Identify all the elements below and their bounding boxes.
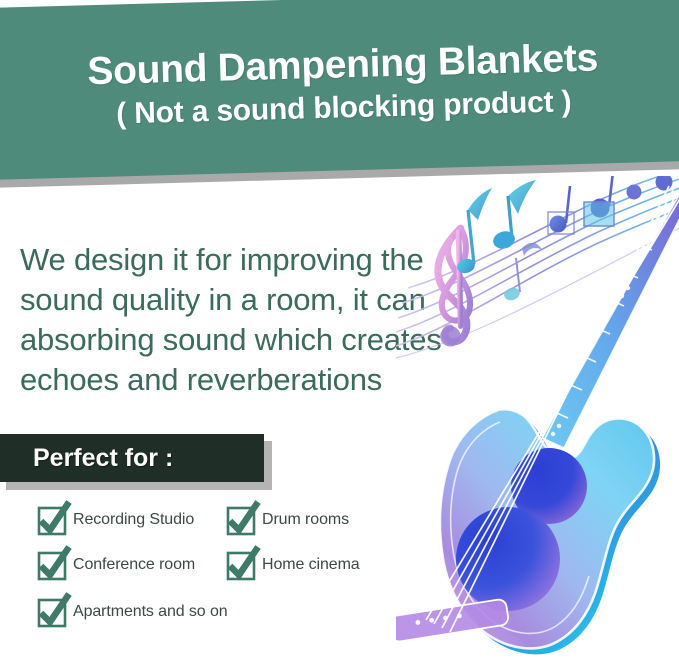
checkbox-checked-icon xyxy=(227,507,253,533)
list-item: Recording Studio xyxy=(38,507,194,533)
perfect-for-label: Perfect for : xyxy=(33,444,173,473)
header-banner: Sound Dampening Blankets ( Not a sound b… xyxy=(0,0,679,180)
list-item: Drum rooms xyxy=(227,507,349,533)
guitar-body xyxy=(396,409,660,654)
checklist-row-1-col-2: Drum rooms xyxy=(227,507,349,533)
list-item-label: Conference room xyxy=(73,556,195,574)
guitar-bridge xyxy=(396,598,509,642)
guitar-neck xyxy=(542,190,679,448)
guitar-pickup-circle xyxy=(511,448,587,524)
list-item-label: Apartments and so on xyxy=(73,603,228,621)
page-subtitle: ( Not a sound blocking product ) xyxy=(116,86,572,130)
perfect-for-banner: Perfect for : xyxy=(0,434,272,490)
guitar-strings xyxy=(426,186,679,632)
header-banner-content: Sound Dampening Blankets ( Not a sound b… xyxy=(0,0,679,180)
list-item-label: Home cinema xyxy=(262,556,360,574)
list-item: Apartments and so on xyxy=(38,599,228,625)
page-title: Sound Dampening Blankets xyxy=(87,38,599,93)
checkbox-checked-icon xyxy=(227,552,253,578)
list-item: Conference room xyxy=(38,552,195,578)
checkbox-checked-icon xyxy=(38,507,64,533)
checkbox-checked-icon xyxy=(38,552,64,578)
guitar-pickup-circle xyxy=(456,507,560,611)
checklist-row-2-col-2: Home cinema xyxy=(227,552,360,578)
list-item: Home cinema xyxy=(227,552,360,578)
product-infographic: Sound Dampening Blankets ( Not a sound b… xyxy=(0,0,679,668)
beamed-notes-icon xyxy=(455,176,672,302)
checkbox-checked-icon xyxy=(38,599,64,625)
checklist-row-3: Apartments and so on xyxy=(38,599,228,625)
checklist-row-1: Recording Studio xyxy=(38,507,194,533)
product-description: We design it for improving the sound qua… xyxy=(20,240,460,400)
perfect-for-banner-fill: Perfect for : xyxy=(0,434,264,482)
checklist-row-2: Conference room xyxy=(38,552,195,578)
list-item-label: Drum rooms xyxy=(262,511,349,529)
list-item-label: Recording Studio xyxy=(73,511,194,529)
